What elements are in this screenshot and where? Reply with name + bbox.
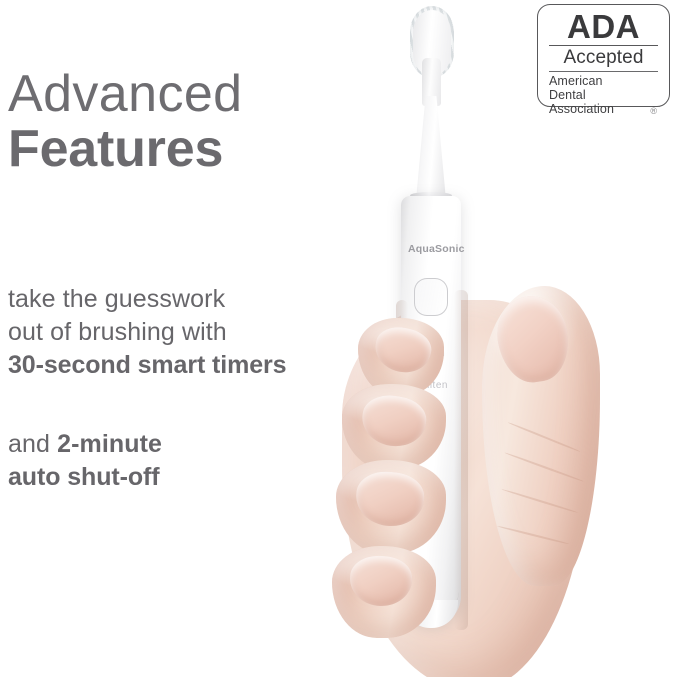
headline: Advanced Features [8,68,338,178]
body-line-4-emphasis: 2-minute [57,430,162,458]
handle-contact-shadow-right [454,290,468,630]
brand-logo-aquasonic: AquaSonic [408,243,456,255]
power-button[interactable] [414,278,448,316]
body-line-3-emphasis: 30-second smart timers [8,349,348,382]
body-line-5-emphasis: auto shut-off [8,461,348,494]
toothbrush-neck [416,96,446,200]
product-feature-image: Advanced Features take the guesswork out… [0,0,679,677]
body-line-2: out of brushing with [8,316,348,349]
feature-text-timers: take the guesswork out of brushing with … [8,283,348,382]
product-photo-hand-holding-toothbrush: AquaSonic clean whiten [330,0,679,677]
headline-line-advanced: Advanced [8,68,338,120]
body-line-4: and 2-minute [8,428,348,461]
body-line-4-prefix: and [8,430,57,458]
body-line-1: take the guesswork [8,283,348,316]
feature-text-shutoff: and 2-minute auto shut-off [8,428,348,494]
headline-line-features: Features [8,120,338,178]
